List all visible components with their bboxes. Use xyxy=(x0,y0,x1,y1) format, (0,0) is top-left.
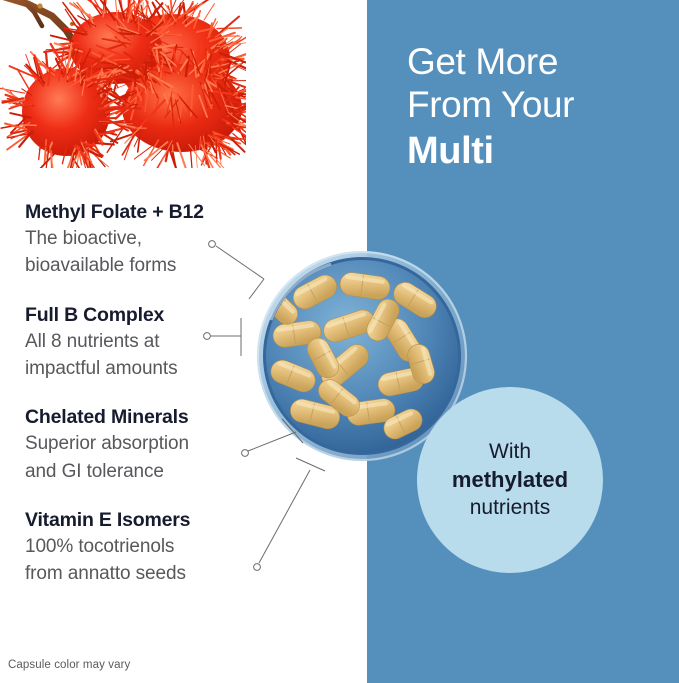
badge-line-2-methylated: methylated xyxy=(452,466,568,495)
feature-desc-line-1: All 8 nutrients at xyxy=(25,329,275,354)
headline-line-3-multi: Multi xyxy=(407,129,669,173)
feature-item-chelated-minerals: Chelated Minerals Superior absorption an… xyxy=(25,405,275,484)
feature-title: Vitamin E Isomers xyxy=(25,508,275,532)
feature-desc-line-1: Superior absorption xyxy=(25,431,275,456)
feature-desc-line-2: and GI tolerance xyxy=(25,459,275,484)
infographic-stage: Get More From Your Multi Methyl Folate +… xyxy=(0,0,679,683)
disclaimer-text: Capsule color may vary xyxy=(8,659,130,671)
badge-line-3: nutrients xyxy=(470,494,551,521)
feature-title: Chelated Minerals xyxy=(25,405,275,429)
headline: Get More From Your Multi xyxy=(407,41,669,173)
headline-line-2: From Your xyxy=(407,84,669,127)
annatto-seed-pods-image xyxy=(0,0,246,168)
feature-item-methyl-folate-b12: Methyl Folate + B12 The bioactive, bioav… xyxy=(25,200,275,279)
feature-title: Methyl Folate + B12 xyxy=(25,200,275,224)
feature-desc-line-2: impactful amounts xyxy=(25,356,275,381)
feature-desc-line-2: from annatto seeds xyxy=(25,561,275,586)
feature-item-full-b-complex: Full B Complex All 8 nutrients at impact… xyxy=(25,303,275,382)
feature-item-vitamin-e-isomers: Vitamin E Isomers 100% tocotrienols from… xyxy=(25,508,275,587)
badge-line-1: With xyxy=(489,438,531,465)
feature-title: Full B Complex xyxy=(25,303,275,327)
feature-list: Methyl Folate + B12 The bioactive, bioav… xyxy=(25,200,275,610)
feature-desc-line-1: The bioactive, xyxy=(25,226,275,251)
methylated-nutrients-badge: With methylated nutrients xyxy=(417,387,603,573)
feature-desc-line-2: bioavailable forms xyxy=(25,253,275,278)
headline-line-1: Get More xyxy=(407,41,669,84)
feature-desc-line-1: 100% tocotrienols xyxy=(25,534,275,559)
